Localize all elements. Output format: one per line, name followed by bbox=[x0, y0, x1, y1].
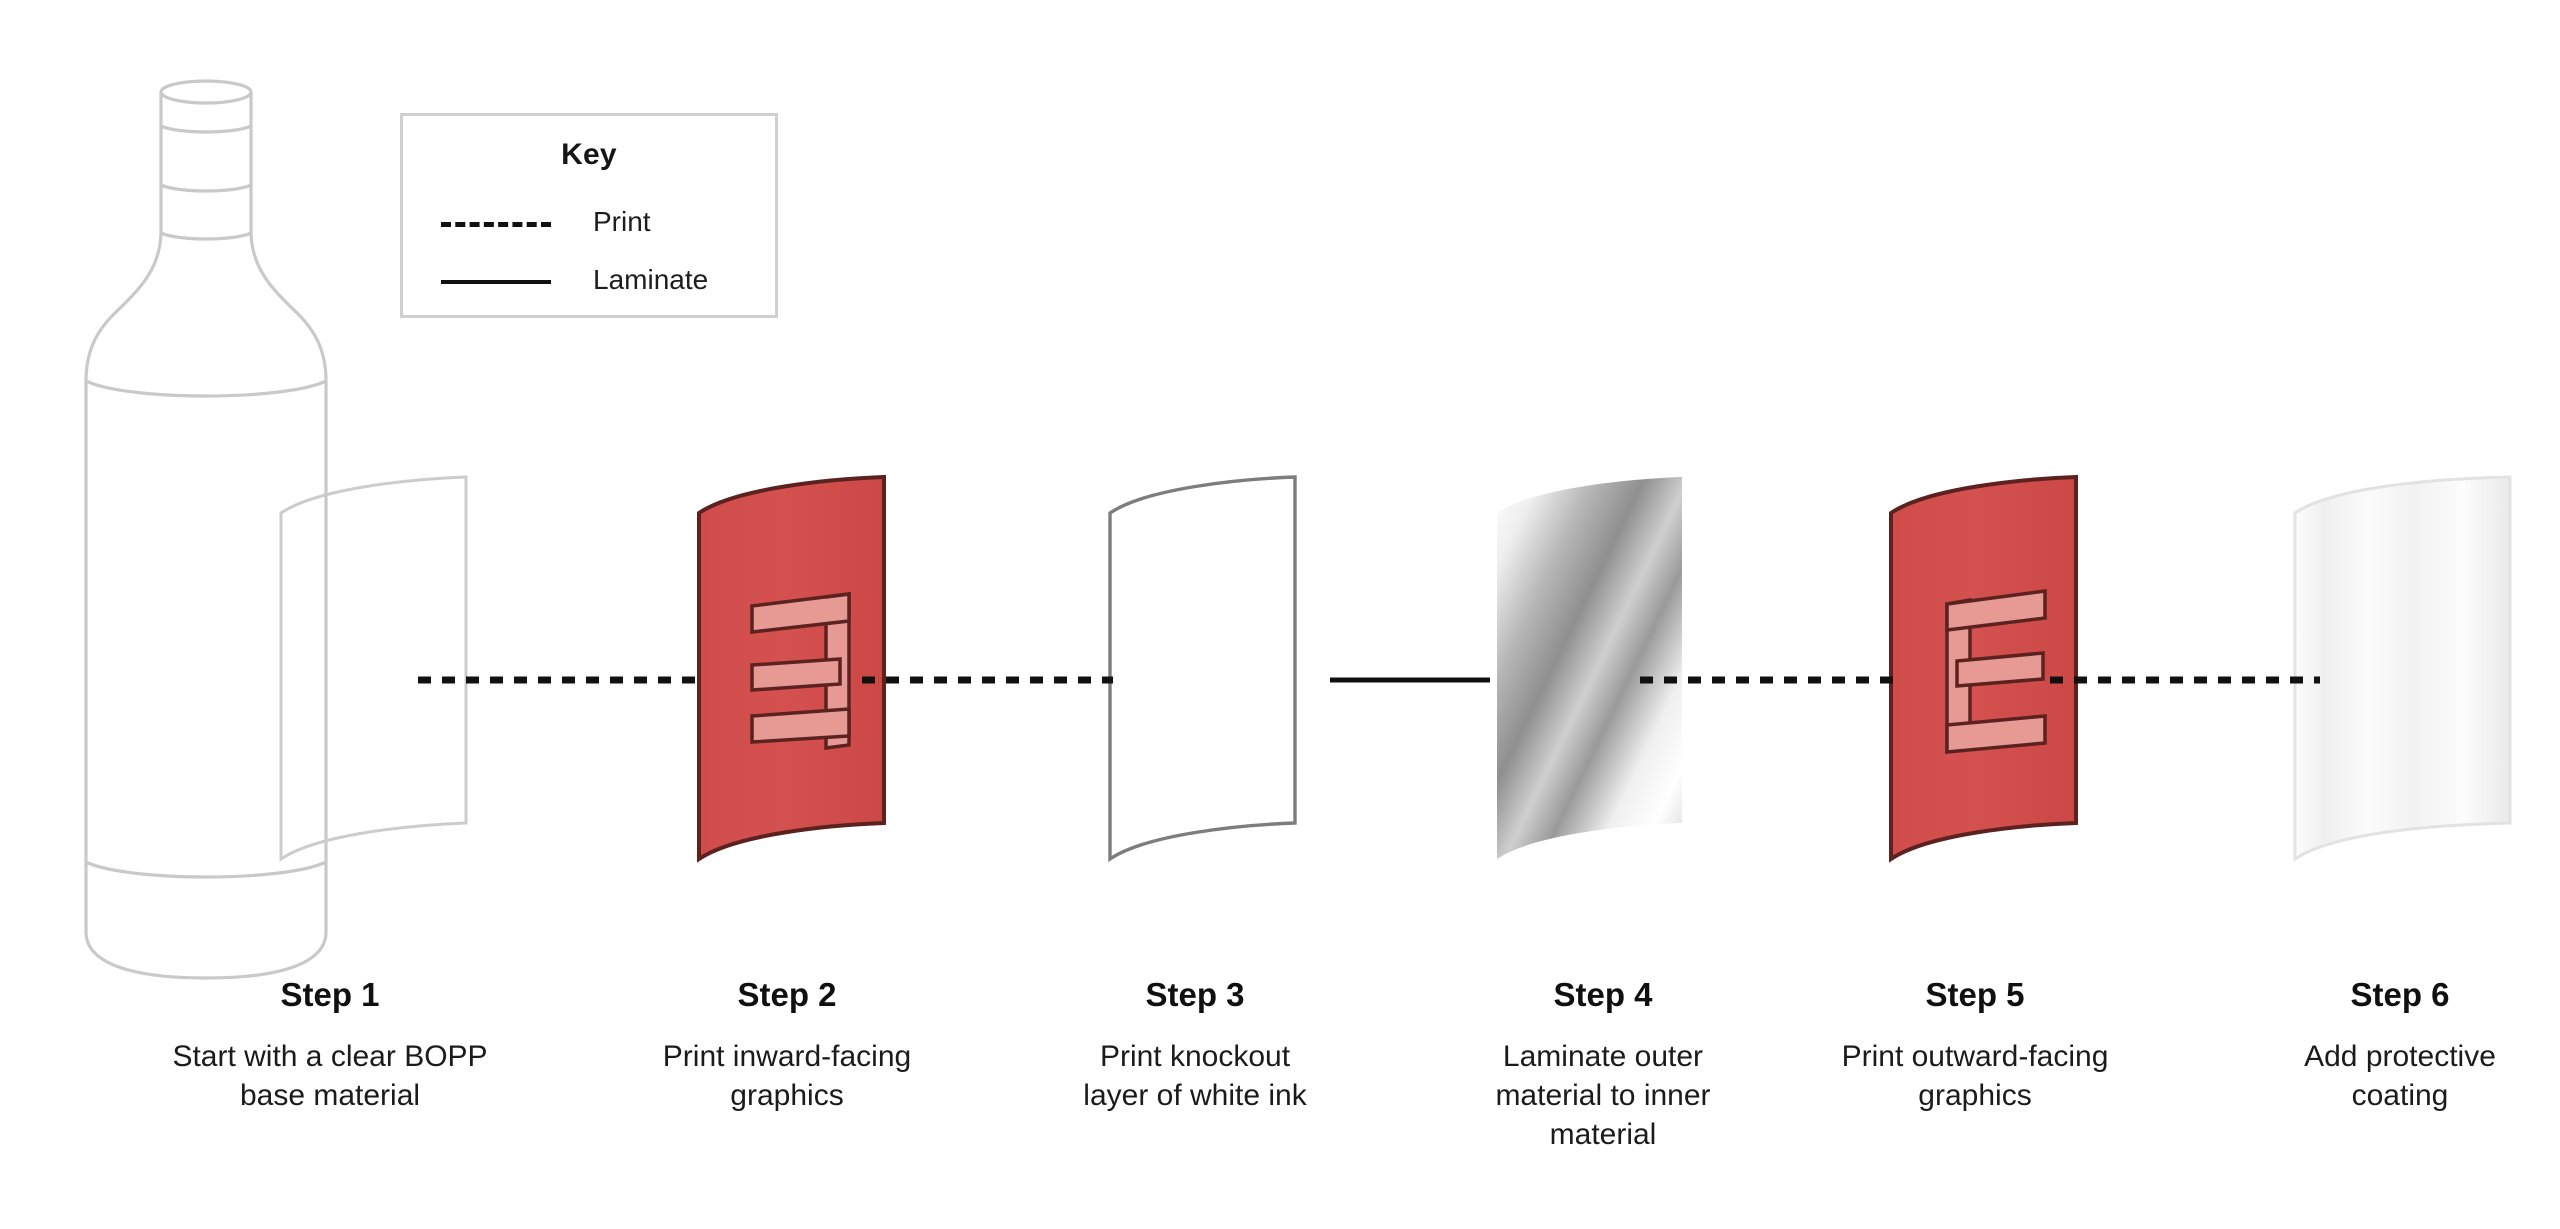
step-4-panel bbox=[1497, 477, 1682, 859]
step-3-panel bbox=[1110, 477, 1295, 859]
step-3-caption: Step 3 Print knockout layer of white ink bbox=[1005, 978, 1385, 1115]
step-4-desc-line-3: material bbox=[1438, 1115, 1768, 1154]
key-legend-box: Key Print Laminate bbox=[400, 113, 778, 318]
solid-line-icon bbox=[441, 280, 551, 284]
step-3-description: Print knockout layer of white ink bbox=[1005, 1037, 1385, 1115]
step-6-panel bbox=[2295, 477, 2510, 859]
key-item-laminate-label: Laminate bbox=[593, 264, 708, 296]
bottle-illustration bbox=[86, 81, 326, 978]
step-1-title: Step 1 bbox=[100, 978, 560, 1011]
step-2-desc-line-1: Print inward-facing bbox=[602, 1037, 972, 1076]
key-item-print-label: Print bbox=[593, 206, 651, 238]
step-1-caption: Step 1 Start with a clear BOPP base mate… bbox=[100, 978, 560, 1115]
step-4-caption: Step 4 Laminate outer material to inner … bbox=[1438, 978, 1768, 1154]
step-captions: Step 1 Start with a clear BOPP base mate… bbox=[0, 978, 2560, 1228]
dashed-line-icon bbox=[441, 222, 551, 227]
step-6-caption: Step 6 Add protective coating bbox=[2230, 978, 2560, 1115]
step-6-title: Step 6 bbox=[2230, 978, 2560, 1011]
letter-e bbox=[1947, 591, 2045, 752]
step-2-panel bbox=[699, 477, 884, 859]
step-5-title: Step 5 bbox=[1780, 978, 2170, 1011]
step-5-panel bbox=[1891, 477, 2076, 859]
step-5-description: Print outward-facing graphics bbox=[1780, 1037, 2170, 1115]
step-4-desc-line-1: Laminate outer bbox=[1438, 1037, 1768, 1076]
step-3-desc-line-2: layer of white ink bbox=[1005, 1076, 1385, 1115]
step-3-title: Step 3 bbox=[1005, 978, 1385, 1011]
step-2-desc-line-2: graphics bbox=[602, 1076, 972, 1115]
step-1-desc-line-1: Start with a clear BOPP bbox=[100, 1037, 560, 1076]
diagram-canvas: Key Print Laminate Step 1 Start with a c… bbox=[0, 0, 2560, 1229]
key-item-laminate: Laminate bbox=[403, 264, 775, 298]
step-2-caption: Step 2 Print inward-facing graphics bbox=[602, 978, 972, 1115]
step-5-desc-line-1: Print outward-facing bbox=[1780, 1037, 2170, 1076]
step-5-caption: Step 5 Print outward-facing graphics bbox=[1780, 978, 2170, 1115]
step-6-desc-line-2: coating bbox=[2230, 1076, 2560, 1115]
key-title: Key bbox=[403, 138, 775, 172]
step-1-panel bbox=[281, 477, 466, 859]
key-item-print: Print bbox=[403, 206, 775, 240]
step-4-desc-line-2: material to inner bbox=[1438, 1076, 1768, 1115]
step-1-description: Start with a clear BOPP base material bbox=[100, 1037, 560, 1115]
step-1-desc-line-2: base material bbox=[100, 1076, 560, 1115]
step-6-description: Add protective coating bbox=[2230, 1037, 2560, 1115]
step-2-description: Print inward-facing graphics bbox=[602, 1037, 972, 1115]
step-6-desc-line-1: Add protective bbox=[2230, 1037, 2560, 1076]
step-2-title: Step 2 bbox=[602, 978, 972, 1011]
step-4-title: Step 4 bbox=[1438, 978, 1768, 1011]
step-3-desc-line-1: Print knockout bbox=[1005, 1037, 1385, 1076]
mirrored-letter-e bbox=[752, 594, 849, 748]
step-5-desc-line-2: graphics bbox=[1780, 1076, 2170, 1115]
step-4-description: Laminate outer material to inner materia… bbox=[1438, 1037, 1768, 1154]
